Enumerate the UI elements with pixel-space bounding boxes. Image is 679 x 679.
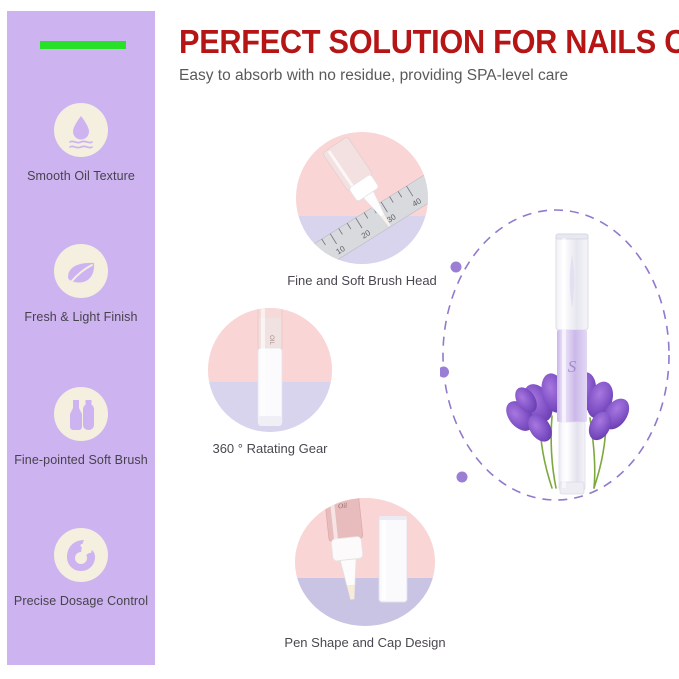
svg-text:OIL: OIL: [268, 335, 274, 345]
sidebar-item-fine-pointed-soft-brush[interactable]: Fine-pointed Soft Brush: [7, 387, 155, 467]
oil-pen: S: [556, 234, 588, 494]
nail-drop-icon: [54, 528, 108, 582]
brush-bottle-icon: [54, 387, 108, 441]
photo-caption: 360 ° Ratating Gear: [199, 441, 341, 456]
pen-cap-photo: Oil: [295, 498, 435, 626]
svg-text:Oil: Oil: [338, 502, 348, 511]
orbit-dot: [457, 472, 468, 483]
feature-photo-pen-cap[interactable]: Oil Pen Shape and Cap Design: [283, 498, 447, 650]
sidebar-item-label: Smooth Oil Texture: [7, 169, 155, 183]
product-infographic: Smooth Oil Texture Fresh & Light Finish: [0, 0, 679, 679]
leaf-icon: [54, 244, 108, 298]
photo-caption: Pen Shape and Cap Design: [283, 635, 447, 650]
svg-text:S: S: [568, 357, 577, 376]
page-subtitle: Easy to absorb with no residue, providin…: [179, 67, 659, 85]
sidebar-item-precise-dosage-control[interactable]: Precise Dosage Control: [7, 528, 155, 608]
oil-drop-icon: [54, 103, 108, 157]
rotating-gear-photo: OIL: [208, 308, 332, 432]
brush-head-photo: 10 20 30 40: [296, 132, 428, 264]
header: PERFECT SOLUTION FOR NAILS CARE Easy to …: [179, 24, 659, 85]
feature-sidebar: Smooth Oil Texture Fresh & Light Finish: [7, 11, 155, 665]
feature-photo-rotating-gear[interactable]: OIL 360 ° Ratating Gear: [199, 308, 341, 456]
orbit-dot: [440, 367, 449, 378]
orbit-dot: [451, 262, 462, 273]
sidebar-item-label: Fine-pointed Soft Brush: [7, 453, 155, 467]
sidebar-item-fresh-light-finish[interactable]: Fresh & Light Finish: [7, 244, 155, 324]
feature-photo-brush-head[interactable]: 10 20 30 40 Fine and Soft Brush Head: [272, 132, 452, 288]
page-title: PERFECT SOLUTION FOR NAILS CARE: [179, 24, 625, 60]
photo-caption: Fine and Soft Brush Head: [272, 273, 452, 288]
sidebar-item-smooth-oil-texture[interactable]: Smooth Oil Texture: [7, 103, 155, 183]
sidebar-item-label: Fresh & Light Finish: [7, 310, 155, 324]
sidebar-item-label: Precise Dosage Control: [7, 594, 155, 608]
hero-product-image: S: [480, 220, 670, 505]
accent-bar: [40, 41, 126, 49]
